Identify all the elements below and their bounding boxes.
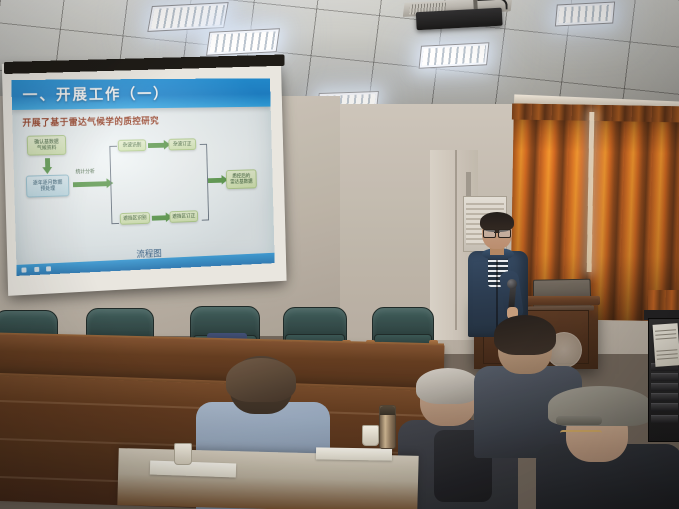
- cap-brim: [556, 416, 602, 425]
- thermos-flask[interactable]: [379, 405, 396, 449]
- projected-slide[interactable]: 一、开展工作（一） 开展了基于雷达气候学的质控研究 确认基数据 气候资料 逐年逐…: [11, 78, 274, 276]
- conference-room-photo: 一、开展工作（一） 开展了基于雷达气候学的质控研究 确认基数据 气候资料 逐年逐…: [0, 0, 679, 509]
- microphone-head: [507, 279, 517, 289]
- flow-node-2: 逐年逐月数据 预处理: [26, 174, 70, 197]
- ceiling-light-2: [206, 28, 280, 56]
- attendee-hair: [226, 358, 296, 402]
- flow-arrow-label: 统计分析: [75, 168, 94, 175]
- flow-node-8: 质控后的 雷达基数据: [226, 169, 257, 189]
- flow-arrow-main: [73, 181, 108, 187]
- front-row-seat[interactable]: [372, 307, 432, 345]
- flow-node-6: 遮挡区识别: [120, 212, 150, 225]
- slide-subtitle: 开展了基于雷达气候学的质控研究: [22, 114, 159, 129]
- flow-brace-left: [109, 146, 119, 224]
- documents[interactable]: [316, 447, 392, 460]
- flow-arrow-down-1: [45, 158, 50, 168]
- flow-arrow-bottom: [152, 215, 167, 220]
- flow-node-7: 遮挡区订正: [169, 210, 198, 223]
- taskview-icon[interactable]: [46, 266, 51, 271]
- projector-body: [416, 8, 503, 30]
- eyeglasses-icon: [483, 229, 511, 236]
- paper-cup[interactable]: [362, 425, 379, 446]
- attendee-gray-hair-top: [416, 368, 480, 404]
- slide-title: 一、开展工作（一）: [22, 83, 169, 105]
- ceiling-light-1: [147, 2, 228, 32]
- eyeglasses-icon: [560, 430, 602, 441]
- start-icon[interactable]: [21, 267, 26, 272]
- rack-papers: [653, 323, 679, 367]
- wall-seam: [455, 150, 457, 330]
- ceiling-light-3: [419, 42, 490, 69]
- documents[interactable]: [150, 461, 236, 478]
- flow-arrow-top: [148, 143, 165, 148]
- flow-node-1: 确认基数据 气候资料: [27, 135, 67, 156]
- flow-node-5: 杂波订正: [168, 138, 196, 150]
- curtain-heading: [512, 104, 679, 123]
- ceiling-light-4: [555, 1, 615, 26]
- paper-cup[interactable]: [174, 443, 192, 465]
- search-icon[interactable]: [34, 267, 39, 272]
- ceiling-projector: [403, 0, 512, 33]
- flow-arrow-merge: [208, 178, 223, 183]
- flow-node-4: 杂波识别: [118, 139, 147, 151]
- attendee-hair: [494, 315, 556, 355]
